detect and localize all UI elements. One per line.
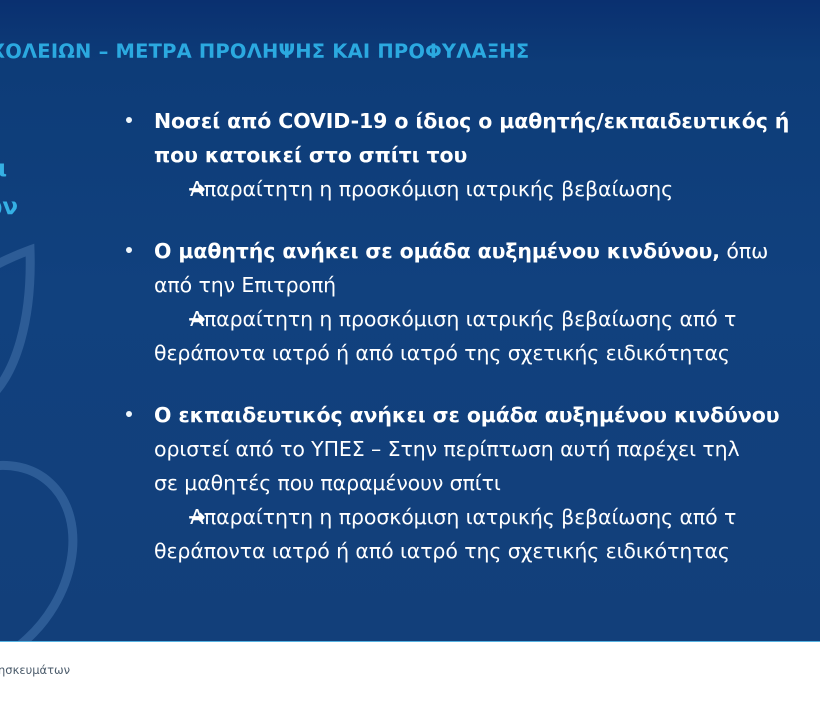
bullet-2-line-3-text: Απαραίτητη η προσκόμιση ιατρικής βεβαίωσ… [190,307,736,331]
bullet-item-2: Ο μαθητής ανήκει σε ομάδα αυξημένου κινδ… [120,234,820,370]
bullet-3-line-4-text: Απαραίτητη η προσκόμιση ιατρικής βεβαίωσ… [190,505,736,529]
bullet-dot-icon [126,411,132,417]
arrow-right-icon: → [188,172,206,206]
slide-side-rail: και κών [0,150,86,226]
bullet-2-line-1-a: Ο μαθητής ανήκει σε ομάδα αυξημένου κινδ… [154,239,720,263]
presentation-slide: ΧΟΛΕΙΩΝ – ΜΕΤΡΑ ΠΡΟΛΗΨΗΣ ΚΑΙ ΠΡΟΦΥΛΑΞΗΣ … [0,0,820,709]
bullet-item-3: Ο εκπαιδευτικός ανήκει σε ομάδα αυξημένο… [120,398,820,568]
bullet-1-line-3: →Απαραίτητη η προσκόμιση ιατρικής βεβαίω… [154,172,820,206]
bullet-3-line-4: →Απαραίτητη η προσκόμιση ιατρικής βεβαίω… [154,500,820,534]
bullet-3-line-5: θεράποντα ιατρό ή από ιατρό της σχετικής… [154,534,820,568]
bullet-1-line-3-text: Απαραίτητη η προσκόμιση ιατρικής βεβαίωσ… [190,177,673,201]
bullet-1-line-1: Νοσεί από COVID-19 ο ίδιος ο μαθητής/εκπ… [154,104,820,138]
bullet-2-line-1: Ο μαθητής ανήκει σε ομάδα αυξημένου κινδ… [154,234,820,268]
bullet-1-line-1-a: Νοσεί από [154,109,278,133]
bullet-dot-icon [126,117,132,123]
bullet-2-line-1-b: όπω [720,239,768,263]
bullet-2-line-3: →Απαραίτητη η προσκόμιση ιατρικής βεβαίω… [154,302,820,336]
bullet-list: Νοσεί από COVID-19 ο ίδιος ο μαθητής/εκπ… [120,104,820,568]
bullet-3-line-1: Ο εκπαιδευτικός ανήκει σε ομάδα αυξημένο… [154,398,820,432]
arrow-right-icon: → [188,302,206,336]
side-rail-line-2: κών [0,188,86,226]
bullet-2-line-4: θεράποντα ιατρό ή από ιατρό της σχετικής… [154,336,820,370]
bullet-3-line-3: σε μαθητές που παραμένουν σπίτι [154,466,820,500]
footer-label: ησκευμάτων [0,663,70,677]
arrow-right-icon: → [188,500,206,534]
bullet-dot-icon [126,247,132,253]
side-rail-line-1: και [0,150,86,188]
bullet-1-line-2: που κατοικεί στο σπίτι του [154,138,820,172]
slide-title: ΧΟΛΕΙΩΝ – ΜΕΤΡΑ ΠΡΟΛΗΨΗΣ ΚΑΙ ΠΡΟΦΥΛΑΞΗΣ [0,40,820,63]
bullet-item-1: Νοσεί από COVID-19 ο ίδιος ο μαθητής/εκπ… [120,104,820,206]
bullet-2-line-2: από την Επιτροπή [154,268,820,302]
bullet-3-line-2: οριστεί από το ΥΠΕΣ – Στην περίπτωση αυτ… [154,432,820,466]
slide-content-panel: ΧΟΛΕΙΩΝ – ΜΕΤΡΑ ΠΡΟΛΗΨΗΣ ΚΑΙ ΠΡΟΦΥΛΑΞΗΣ … [0,0,820,642]
bullet-1-line-1-b: ο ίδιος ο μαθητής/εκπαιδευτικός ή [387,109,789,133]
bullet-1-covid-label: COVID-19 [278,109,387,133]
slide-footer [0,642,820,709]
